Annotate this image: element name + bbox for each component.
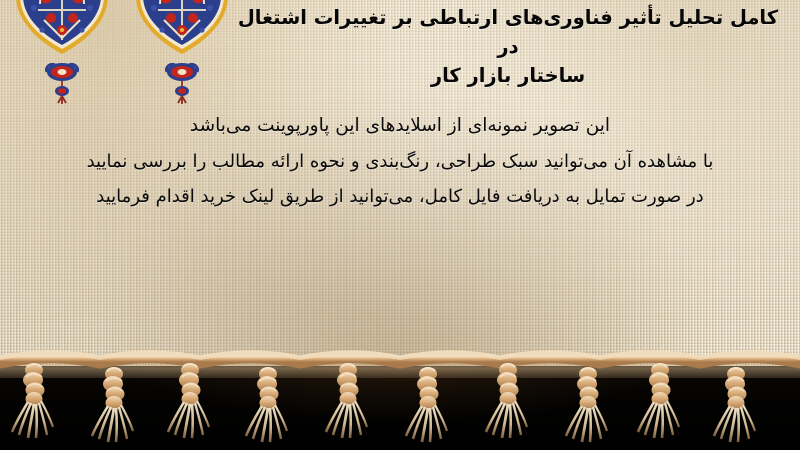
slide-title-line-2: ساختار بازار کار <box>228 62 788 91</box>
body-line-1: این تصویر نمونه‌ای از اسلایدهای این پاور… <box>0 108 800 144</box>
slide-body: این تصویر نمونه‌ای از اسلایدهای این پاور… <box>0 108 800 214</box>
presentation-slide: کامل تحلیل تأثیر فناوری‌های ارتباطی بر ت… <box>0 0 800 450</box>
slide-title-line-1: کامل تحلیل تأثیر فناوری‌های ارتباطی بر ت… <box>228 4 788 62</box>
slide-text-stack: کامل تحلیل تأثیر فناوری‌های ارتباطی بر ت… <box>0 0 800 372</box>
slide-title: کامل تحلیل تأثیر فناوری‌های ارتباطی بر ت… <box>228 4 788 91</box>
body-line-3: در صورت تمایل به دریافت فایل کامل، می‌تو… <box>0 179 800 214</box>
carpet-black-border <box>0 366 800 450</box>
body-line-2: با مشاهده آن می‌توانید سبک طراحی، رنگ‌بن… <box>0 144 800 179</box>
